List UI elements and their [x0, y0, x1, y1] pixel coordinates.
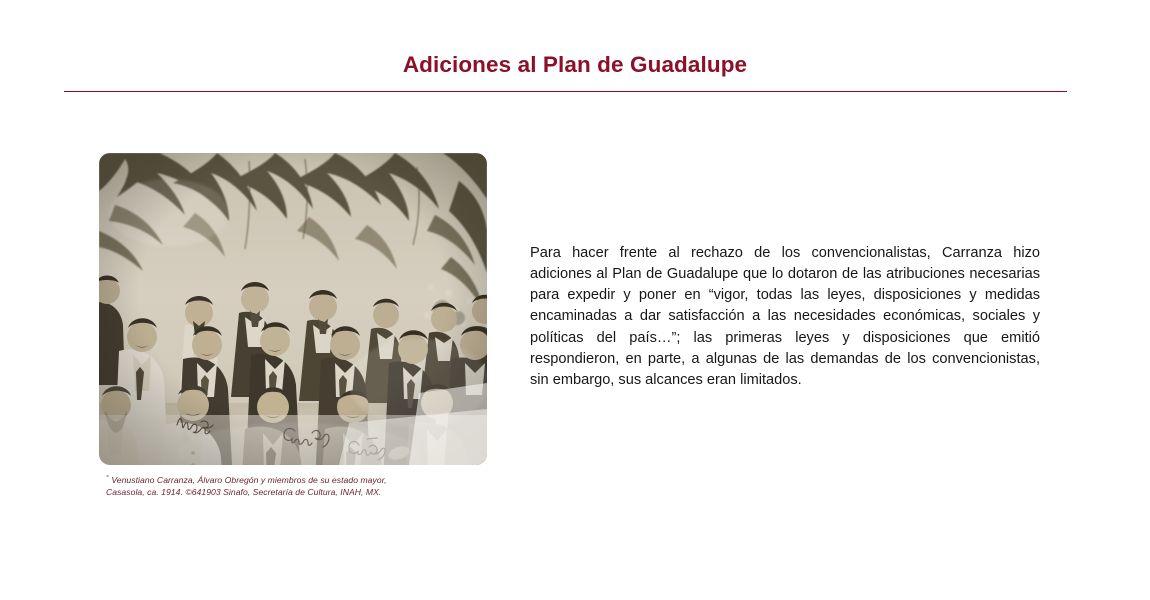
- body-paragraph: Para hacer frente al rechazo de los conv…: [530, 243, 1040, 392]
- caption-line-2: Casasola, ca. 1914. ©641903 Sinafo, Secr…: [106, 486, 506, 498]
- photo-caption: ° Venustiano Carranza, Álvaro Obregón y …: [106, 473, 506, 499]
- caption-line-1: ° Venustiano Carranza, Álvaro Obregón y …: [106, 473, 506, 486]
- photo-illustration: [99, 153, 487, 465]
- page-title: Adiciones al Plan de Guadalupe: [0, 51, 1150, 79]
- caption-text-1: Venustiano Carranza, Álvaro Obregón y mi…: [111, 475, 386, 485]
- title-divider: [64, 91, 1067, 92]
- caption-marker: °: [106, 475, 109, 482]
- slide-canvas: Adiciones al Plan de Guadalupe: [0, 0, 1150, 600]
- historical-photo: [99, 153, 487, 465]
